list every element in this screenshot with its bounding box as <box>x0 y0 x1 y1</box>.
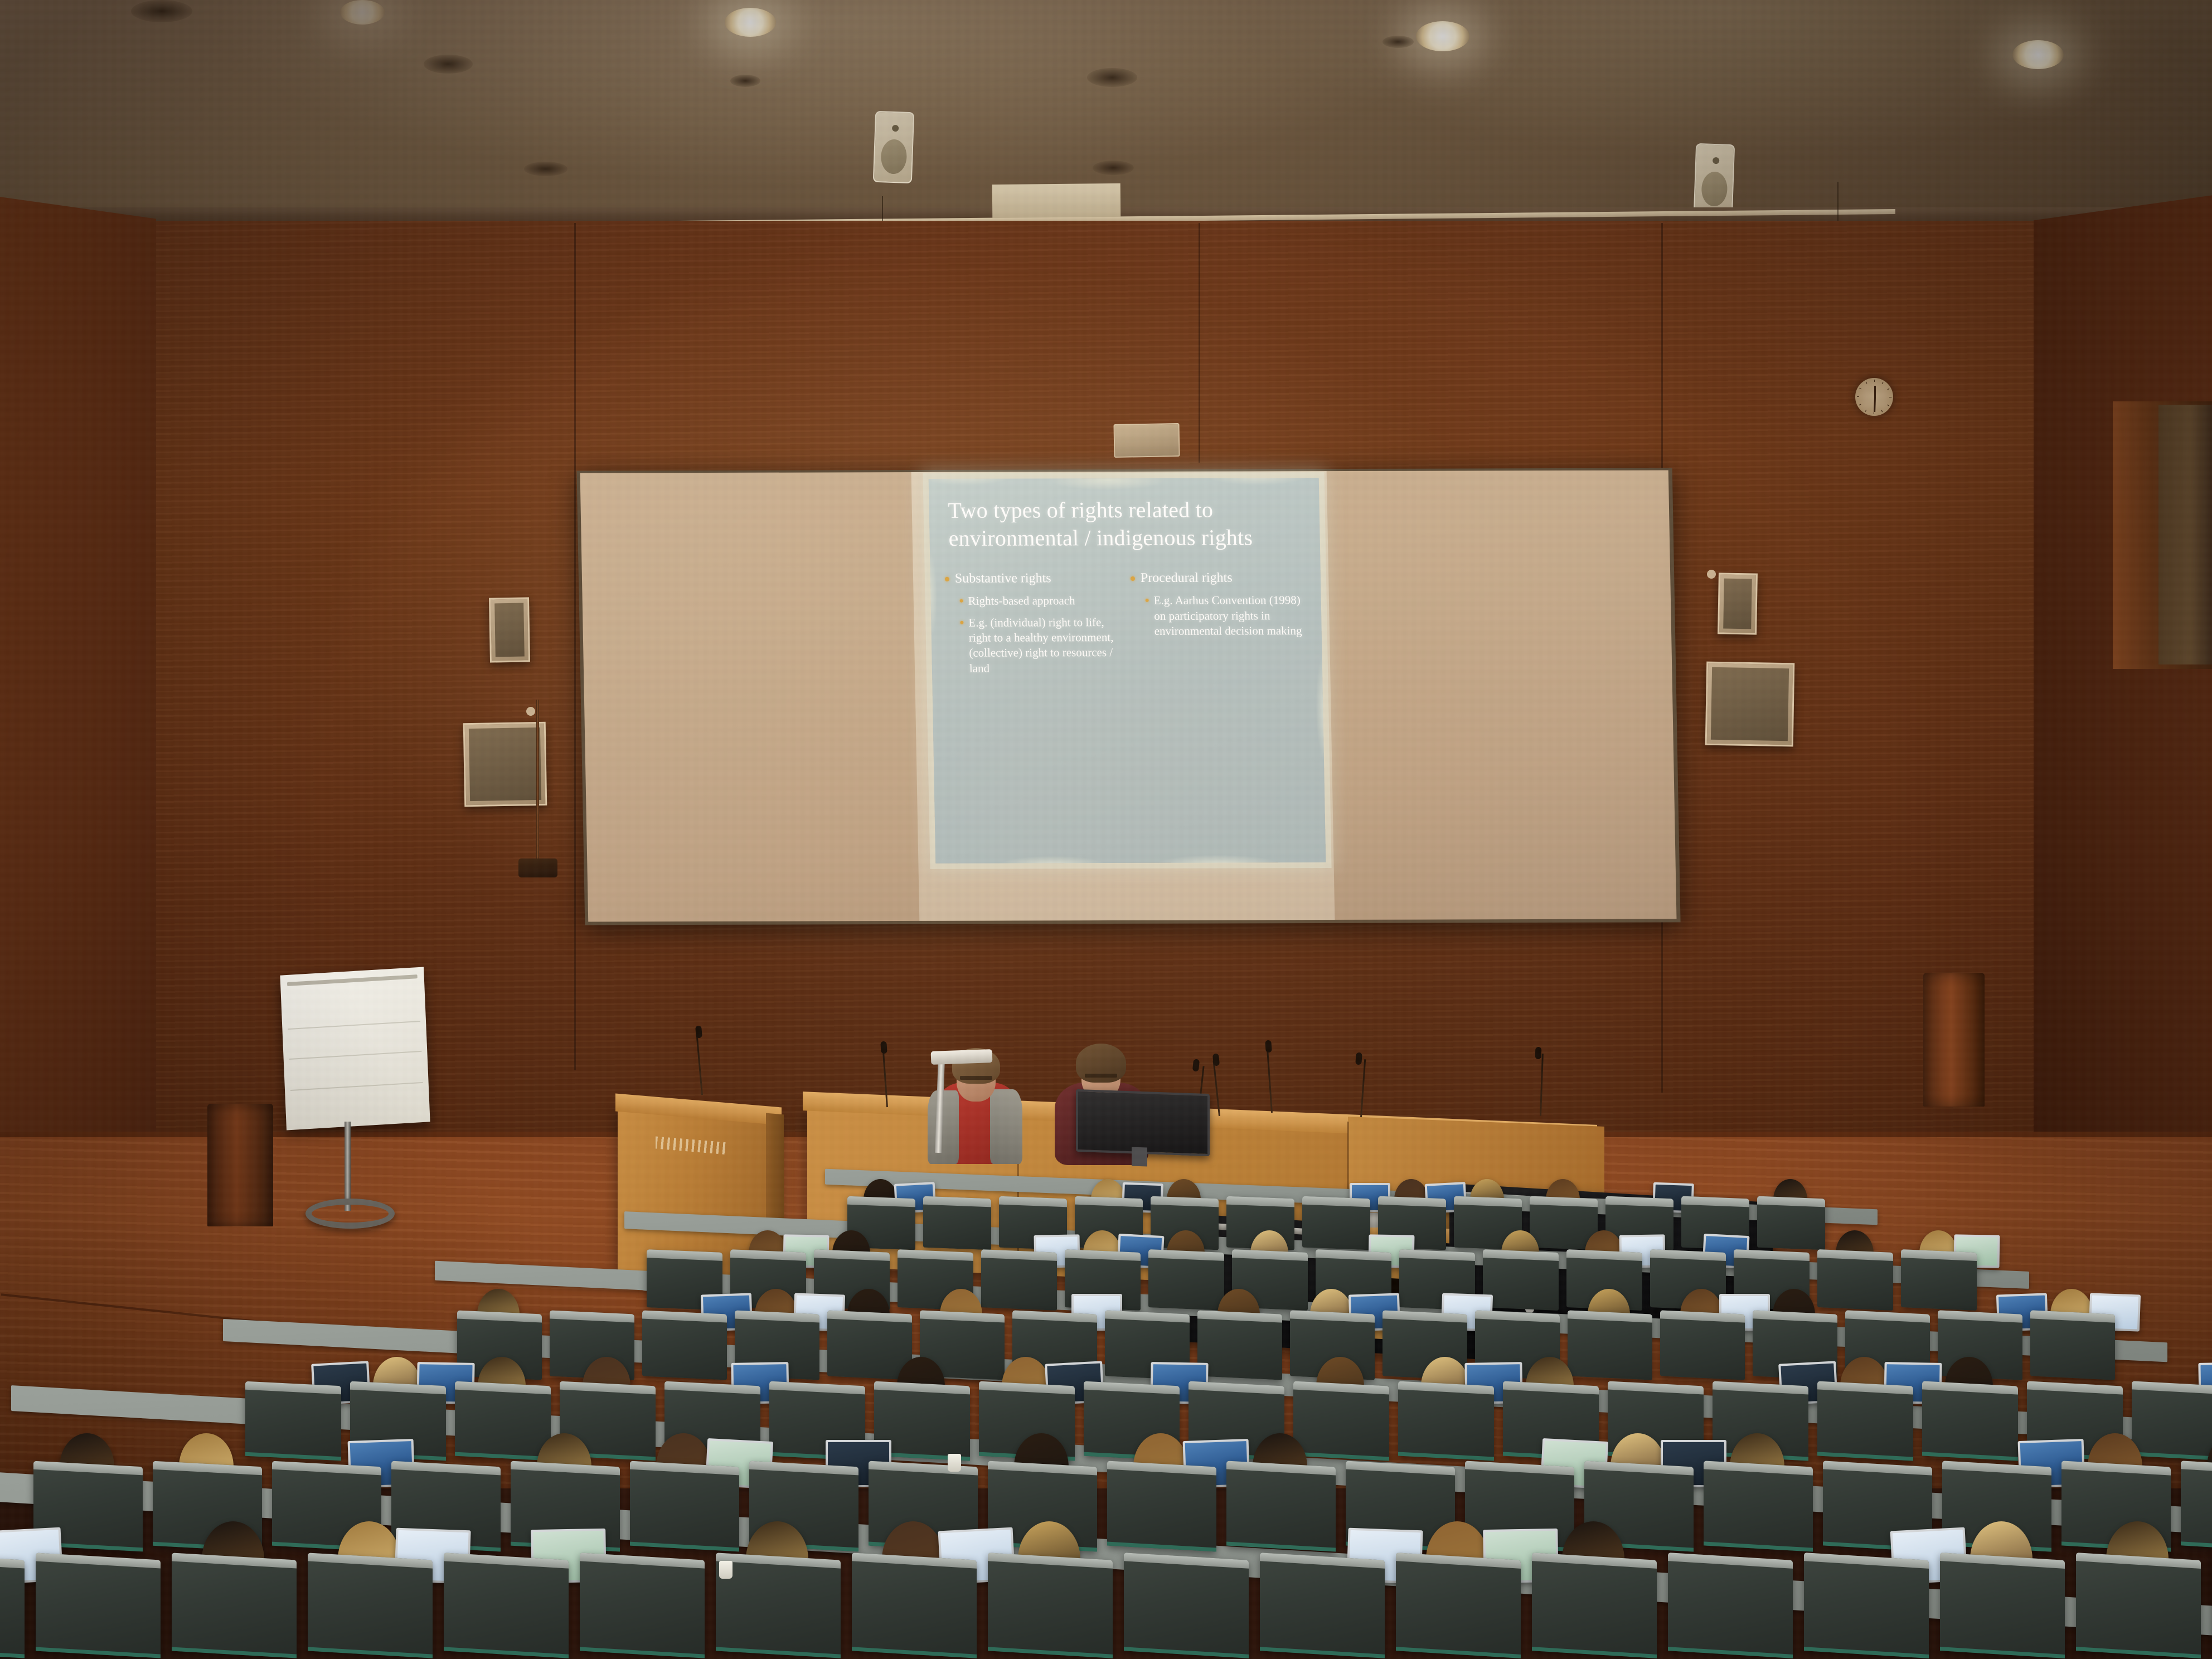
slide-bullet: E.g. Aarhus Convention (1998) on partici… <box>1145 593 1307 639</box>
seat-headrest-trim <box>1503 1381 1599 1394</box>
presenter-monitor <box>1076 1089 1210 1156</box>
seat-headrest-trim <box>1681 1196 1749 1207</box>
bullet-icon <box>1131 576 1135 581</box>
audience-seat[interactable] <box>2181 1461 2212 1551</box>
ceiling-vent-icon <box>1087 68 1137 87</box>
seat-piping <box>988 1647 1113 1658</box>
seat-headrest-trim <box>874 1381 970 1395</box>
wall-speaker-icon <box>1705 662 1795 747</box>
seat-headrest-trim <box>1845 1310 1930 1322</box>
seat-piping <box>1704 1541 1813 1551</box>
audience-seat[interactable] <box>245 1381 341 1461</box>
seat-headrest-trim <box>999 1196 1067 1207</box>
seat-piping <box>1668 1647 1793 1658</box>
seat-headrest-trim <box>1475 1310 1560 1322</box>
side-door[interactable] <box>2158 405 2212 664</box>
wall-bracket-pole <box>536 700 539 867</box>
seat-headrest-trim <box>2181 1461 2212 1475</box>
audience-seat[interactable] <box>716 1553 841 1658</box>
presenter-left-vest <box>990 1089 1022 1164</box>
microphone-head-icon <box>1535 1047 1542 1059</box>
seat-piping <box>1817 1452 1913 1461</box>
slide-heading: Substantive rights <box>945 570 1121 587</box>
seat-piping <box>1922 1452 2018 1461</box>
bullet-icon <box>960 621 963 624</box>
right-side-wall <box>2034 192 2212 1224</box>
audience-seat[interactable] <box>923 1196 991 1250</box>
downlight-icon <box>340 0 385 25</box>
seat-piping <box>0 1647 25 1658</box>
audience-seat[interactable] <box>1148 1249 1224 1311</box>
audience-seat[interactable] <box>1940 1553 2065 1658</box>
seat-headrest-trim <box>1668 1553 1793 1569</box>
microphone-head-icon <box>880 1041 887 1054</box>
audience-seat[interactable] <box>1396 1553 1521 1658</box>
seat-headrest-trim <box>560 1381 656 1395</box>
slide-sublist: E.g. Aarhus Convention (1998) on partici… <box>1145 593 1307 639</box>
seat-piping <box>716 1647 841 1658</box>
audience-seat[interactable] <box>308 1553 433 1658</box>
audience-seat[interactable] <box>1901 1249 1977 1311</box>
ceiling-vent-icon <box>1093 161 1134 175</box>
seat-piping <box>580 1647 705 1658</box>
audience-seat[interactable] <box>36 1553 161 1658</box>
ceiling-speaker-icon <box>873 111 914 183</box>
flip-chart-clamp <box>287 974 418 986</box>
audience-seat[interactable] <box>988 1553 1113 1658</box>
seat-piping <box>2076 1647 2201 1658</box>
audience-seat[interactable] <box>1817 1381 1913 1461</box>
seat-headrest-trim <box>1817 1249 1893 1261</box>
seat-piping <box>1940 1647 2065 1658</box>
audience-seat[interactable] <box>1107 1461 1216 1552</box>
audience-seat[interactable] <box>580 1553 705 1658</box>
ceiling-vent-icon <box>424 55 473 74</box>
seat-piping <box>852 1647 977 1658</box>
seat-headrest-trim <box>36 1553 161 1568</box>
ceiling-vent-icon <box>1382 36 1414 48</box>
seat-headrest-trim <box>1608 1381 1704 1394</box>
seat-headrest-trim <box>1734 1249 1810 1261</box>
slide-bullet: E.g. (individual) right to life, right t… <box>960 615 1122 676</box>
audience-seat[interactable] <box>1922 1381 2018 1461</box>
monitor-stand <box>1132 1147 1147 1167</box>
presenter-left-glasses-icon <box>960 1076 992 1080</box>
bullet-icon <box>945 577 949 581</box>
audience-seat[interactable] <box>0 1553 25 1658</box>
seat-headrest-trim <box>827 1310 912 1322</box>
seat-piping <box>444 1647 569 1658</box>
slide-columns: Substantive rights Rights-based approach… <box>945 570 1308 682</box>
slide-sublist: Rights-based approach E.g. (individual) … <box>959 594 1122 676</box>
audience-seat[interactable] <box>981 1249 1057 1311</box>
seat-piping <box>308 1647 433 1658</box>
seat-piping <box>2132 1452 2212 1461</box>
audience-seat[interactable] <box>1302 1196 1370 1250</box>
seat-headrest-trim <box>647 1249 722 1261</box>
audience-seat[interactable] <box>2030 1310 2115 1380</box>
seat-headrest-trim <box>1753 1310 1837 1322</box>
seat-piping <box>1398 1452 1494 1461</box>
slide-bullet-text: E.g. (individual) right to life, right t… <box>968 615 1122 676</box>
slide-bullet-text: E.g. Aarhus Convention (1998) on partici… <box>1153 593 1307 639</box>
seat-headrest-trim <box>1823 1461 1932 1475</box>
audience-seat[interactable] <box>172 1553 297 1658</box>
bullet-icon <box>960 599 963 603</box>
presenter-right-glasses-icon <box>1085 1074 1117 1078</box>
microphone-head-icon <box>1355 1052 1362 1065</box>
wall-seam <box>574 223 576 1070</box>
seat-headrest-trim <box>923 1196 991 1207</box>
ceiling-vent-icon <box>524 162 567 176</box>
desk-lamp-icon <box>931 1049 993 1065</box>
wall-seam <box>1199 223 1200 463</box>
seat-piping <box>1804 1647 1929 1658</box>
downlight-icon <box>725 8 776 37</box>
audience-seat[interactable] <box>827 1310 912 1380</box>
audience-seat[interactable] <box>1757 1196 1825 1250</box>
wall-speaker-icon <box>489 597 530 662</box>
audience-seat[interactable] <box>1660 1310 1745 1380</box>
audience-seat[interactable] <box>852 1553 977 1658</box>
wall-speaker-icon <box>463 722 547 807</box>
audience-seat[interactable] <box>1260 1553 1385 1658</box>
seat-headrest-trim <box>814 1249 890 1261</box>
seat-headrest-trim <box>2027 1381 2123 1394</box>
clock-hour-hand <box>1874 386 1876 398</box>
slide-column-procedural: Procedural rights E.g. Aarhus Convention… <box>1131 570 1308 682</box>
lecture-hall-photo: Two types of rights related to environme… <box>0 0 2212 1659</box>
audience-seat[interactable] <box>444 1553 569 1658</box>
seat-piping <box>455 1452 551 1461</box>
slide-heading: Procedural rights <box>1131 570 1307 586</box>
seat-piping <box>1124 1647 1249 1658</box>
audience-seat[interactable] <box>1293 1381 1389 1461</box>
ceiling-speaker-icon <box>1694 143 1735 216</box>
seat-headrest-trim <box>769 1381 865 1395</box>
audience-seat[interactable] <box>2132 1381 2212 1461</box>
seat-headrest-trim <box>1922 1381 2018 1394</box>
slide-heading-text: Procedural rights <box>1141 570 1233 587</box>
ceiling-vent-icon <box>730 75 760 87</box>
seat-piping <box>1396 1647 1521 1658</box>
wall-base-column <box>1923 973 1985 1107</box>
seat-headrest-trim <box>457 1311 542 1323</box>
downlight-icon <box>2012 40 2064 69</box>
audience-seat[interactable] <box>1804 1553 1929 1658</box>
audience-seat[interactable] <box>1704 1461 1813 1551</box>
center-speaker-icon <box>1113 423 1180 458</box>
microphone-head-icon <box>1265 1040 1272 1053</box>
left-side-wall <box>0 194 156 1223</box>
wall-lamp-icon <box>518 858 557 877</box>
audience-seat[interactable] <box>1668 1553 1793 1658</box>
slide-bullet-text: Rights-based approach <box>968 594 1075 609</box>
speaker-bracket-icon <box>1707 570 1716 579</box>
wall-speaker-icon <box>1718 573 1758 634</box>
seat-headrest-trim <box>455 1381 551 1395</box>
seat-headrest-trim <box>898 1249 973 1261</box>
seat-piping <box>1260 1647 1385 1658</box>
seat-headrest-trim <box>550 1310 634 1322</box>
bullet-icon <box>1146 599 1149 602</box>
slide-bullet: Rights-based approach <box>959 594 1121 609</box>
seat-headrest-trim <box>580 1553 705 1568</box>
downlight-icon <box>1416 21 1469 51</box>
paper-cup <box>948 1454 961 1472</box>
microphone-head-icon <box>695 1026 702 1039</box>
seat-piping <box>1532 1647 1657 1658</box>
audience-seat[interactable] <box>1124 1553 1249 1658</box>
audience-seat[interactable] <box>1817 1249 1893 1311</box>
seat-piping <box>36 1647 161 1658</box>
audience-seat[interactable] <box>1197 1310 1282 1380</box>
wall-clock <box>1855 378 1893 416</box>
audience-seating <box>0 1193 2212 1659</box>
microphone-head-icon <box>1212 1053 1220 1066</box>
slide-column-substantive: Substantive rights Rights-based approach… <box>945 570 1123 682</box>
audience-seat[interactable] <box>1226 1461 1336 1551</box>
seat-headrest-trim <box>920 1310 1005 1322</box>
seat-piping <box>172 1647 297 1658</box>
audience-seat[interactable] <box>1398 1381 1494 1461</box>
presentation-slide: Two types of rights related to environme… <box>929 478 1326 864</box>
audience-seat[interactable] <box>1483 1249 1559 1311</box>
audience-seat[interactable] <box>2076 1553 2201 1658</box>
audience-seat[interactable] <box>455 1381 551 1461</box>
seat-headrest-trim <box>1568 1310 1652 1322</box>
flip-chart[interactable] <box>280 967 430 1130</box>
paper-cup <box>719 1561 733 1579</box>
seat-piping <box>245 1452 341 1461</box>
seat-headrest-trim <box>1757 1196 1825 1207</box>
audience-seat[interactable] <box>1532 1553 1657 1658</box>
audience-seat[interactable] <box>1568 1310 1652 1380</box>
slide-heading-text: Substantive rights <box>955 571 1051 588</box>
slide-title: Two types of rights related to environme… <box>948 496 1304 552</box>
seat-headrest-trim <box>391 1461 501 1476</box>
audience-seat[interactable] <box>630 1461 739 1552</box>
audience-seat[interactable] <box>642 1310 727 1380</box>
speaker-bracket-icon <box>526 707 535 716</box>
ceiling-vent-icon <box>131 0 192 22</box>
seat-piping <box>2181 1541 2212 1551</box>
seat-piping <box>630 1542 739 1552</box>
